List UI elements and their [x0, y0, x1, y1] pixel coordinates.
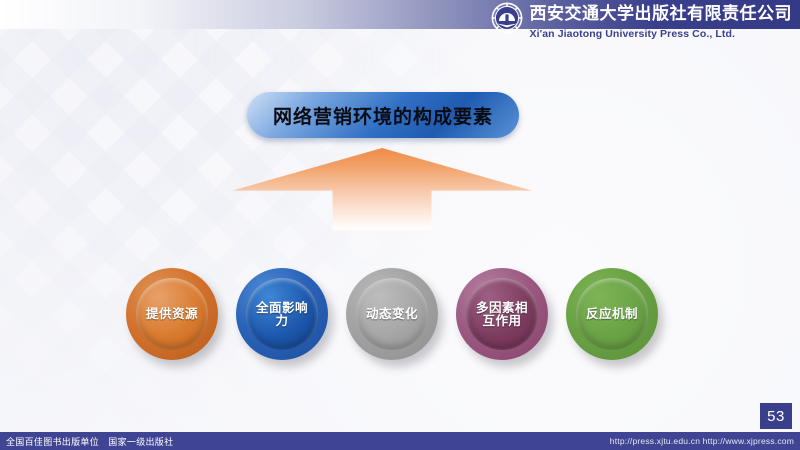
publisher-brand: 西安交通大学出版社有限责任公司 Xi'an Jiaotong Universit… [490, 1, 793, 40]
page-title: 网络营销环境的构成要素 [273, 102, 493, 129]
brand-name-chinese: 西安交通大学出版社有限责任公司 [530, 1, 793, 27]
node-provide-resources[interactable]: 提供资源 [126, 268, 218, 360]
node-inner-circle: 反应机制 [576, 278, 648, 350]
footer-accolade-text: 全国百佳图书出版单位 国家一级出版社 [6, 435, 173, 448]
node-label: 全面影响力 [256, 301, 308, 328]
node-label: 提供资源 [146, 307, 198, 321]
slide-canvas: 西安交通大学出版社有限责任公司 Xi'an Jiaotong Universit… [0, 0, 800, 450]
node-inner-circle: 多因素相互作用 [466, 278, 538, 350]
node-comprehensive-influence[interactable]: 全面影响力 [236, 268, 328, 360]
footer-band: 全国百佳图书出版单位 国家一级出版社 http://press.xjtu.edu… [0, 432, 800, 450]
node-multifactor-interaction[interactable]: 多因素相互作用 [456, 268, 548, 360]
footer-website-links[interactable]: http://press.xjtu.edu.cn http://www.xjpr… [610, 436, 794, 446]
page-number: 53 [767, 408, 785, 425]
node-inner-circle: 全面影响力 [246, 278, 318, 350]
element-circle-row: 提供资源 全面影响力 动态变化 多因素相互作用 反应机制 [0, 268, 800, 372]
slide-title-pill: 网络营销环境的构成要素 [247, 92, 519, 138]
node-label: 多因素相互作用 [476, 301, 528, 328]
page-number-badge: 53 [760, 403, 792, 429]
node-inner-circle: 动态变化 [356, 278, 428, 350]
node-label: 动态变化 [366, 307, 418, 321]
university-press-emblem-icon [490, 1, 524, 35]
brand-name-english: Xi'an Jiaotong University Press Co., Ltd… [530, 29, 793, 40]
node-response-mechanism[interactable]: 反应机制 [566, 268, 658, 360]
node-dynamic-change[interactable]: 动态变化 [346, 268, 438, 360]
node-inner-circle: 提供资源 [136, 278, 208, 350]
node-label: 反应机制 [586, 307, 638, 321]
